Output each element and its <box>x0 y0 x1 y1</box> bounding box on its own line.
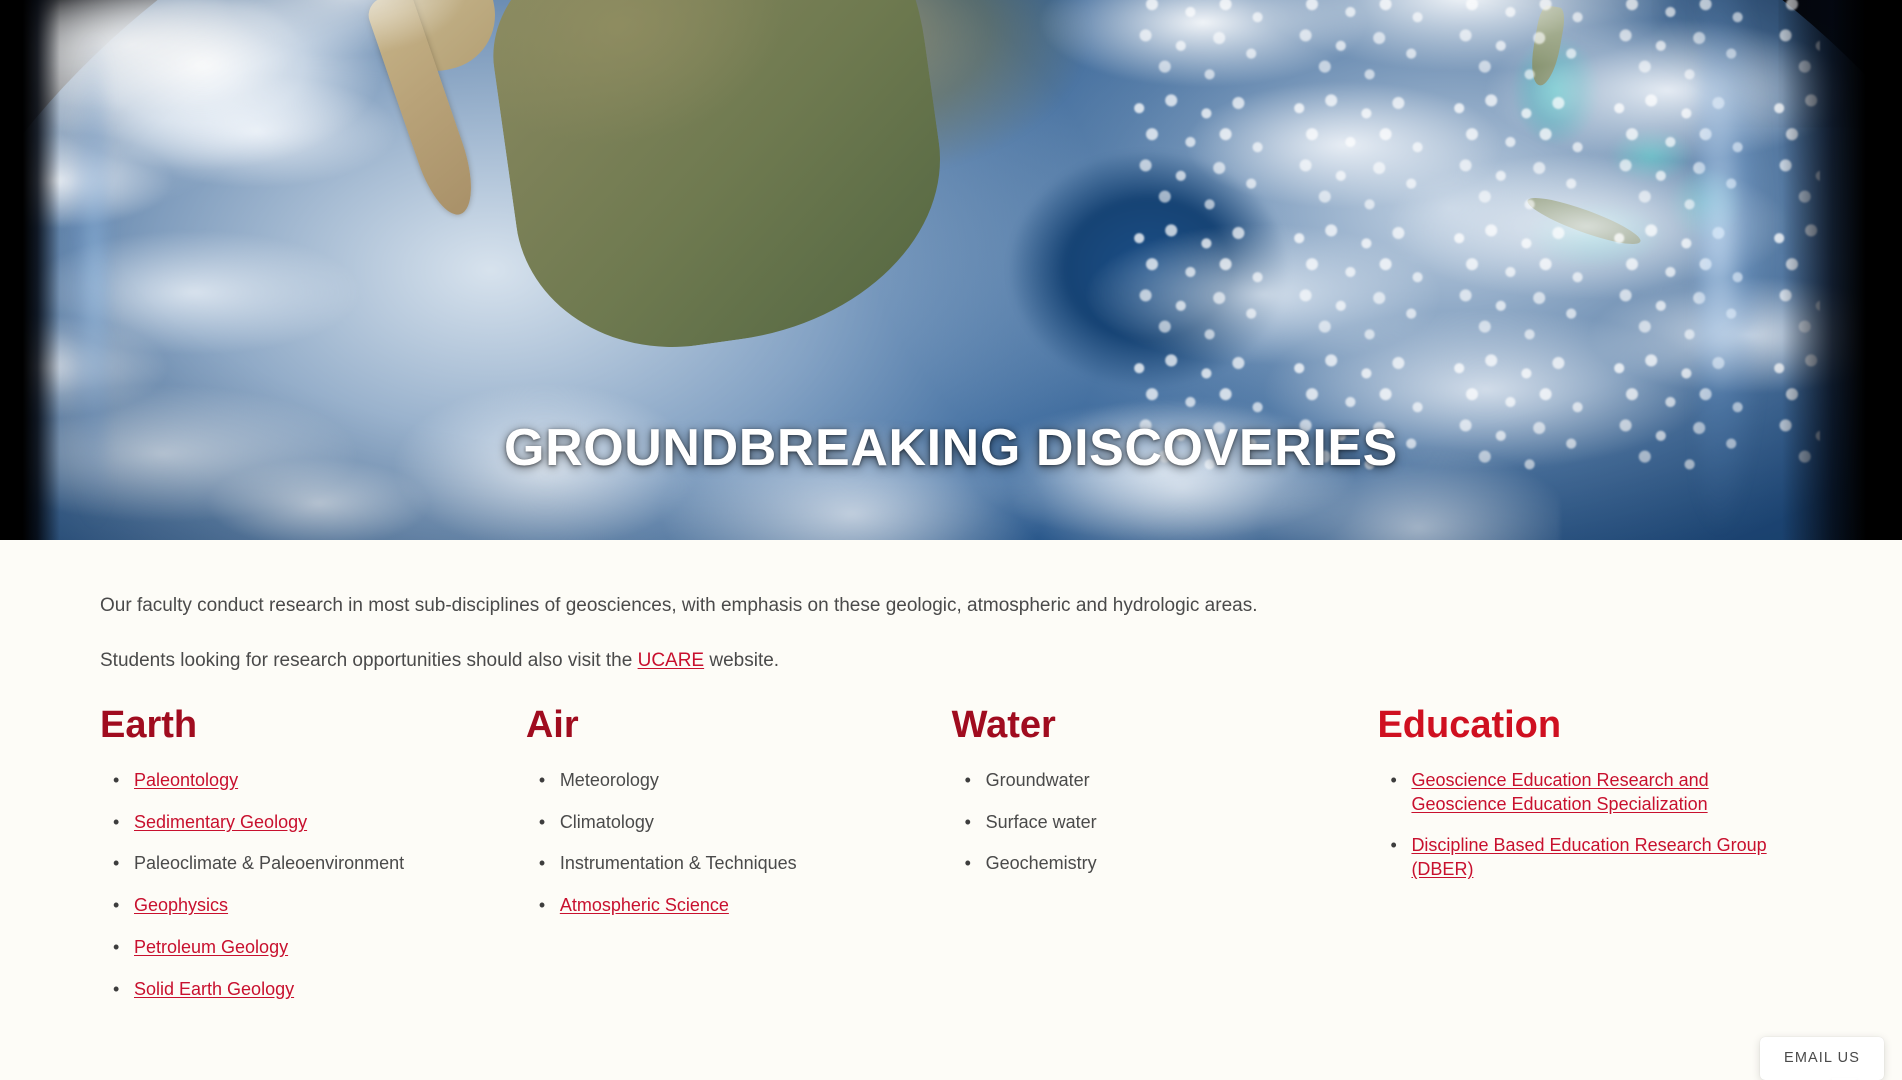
list-item: Paleoclimate & Paleoenvironment <box>134 852 490 876</box>
email-us-widget[interactable]: EMAIL US <box>1760 1037 1884 1080</box>
research-link-paleontology[interactable]: Paleontology <box>134 770 238 790</box>
list-item: Sedimentary Geology <box>134 811 490 835</box>
research-list-water: Groundwater Surface water Geochemistry <box>952 769 1342 876</box>
email-us-button[interactable]: EMAIL US <box>1760 1037 1884 1080</box>
intro-paragraph-2: Students looking for research opportunit… <box>100 647 1802 676</box>
list-item: Meteorology <box>560 769 916 793</box>
intro-paragraph-1: Our faculty conduct research in most sub… <box>100 592 1802 621</box>
research-column-air: Air Meteorology Climatology Instrumentat… <box>526 705 952 1019</box>
research-link-solid-earth-geology[interactable]: Solid Earth Geology <box>134 979 294 999</box>
research-list-education: Geoscience Education Research and Geosci… <box>1377 769 1802 882</box>
list-item: Instrumentation & Techniques <box>560 852 916 876</box>
research-column-water: Water Groundwater Surface water Geochemi… <box>952 705 1378 1019</box>
column-heading-education: Education <box>1377 705 1802 747</box>
research-column-education: Education Geoscience Education Research … <box>1377 705 1802 1019</box>
column-heading-air: Air <box>526 705 916 747</box>
list-item: Paleontology <box>134 769 490 793</box>
list-item: Groundwater <box>986 769 1342 793</box>
research-link-geophysics[interactable]: Geophysics <box>134 895 228 915</box>
intro-section: Our faculty conduct research in most sub… <box>100 592 1802 675</box>
hero-banner: GROUNDBREAKING DISCOVERIES <box>0 0 1902 540</box>
research-list-air: Meteorology Climatology Instrumentation … <box>526 769 916 918</box>
ucare-link[interactable]: UCARE <box>638 650 705 671</box>
research-list-earth: Paleontology Sedimentary Geology Paleocl… <box>100 769 490 1002</box>
research-areas-columns: Earth Paleontology Sedimentary Geology P… <box>100 705 1802 1019</box>
research-link-atmospheric-science[interactable]: Atmospheric Science <box>560 895 729 915</box>
list-item: Surface water <box>986 811 1342 835</box>
list-item: Atmospheric Science <box>560 894 916 918</box>
intro-paragraph-2-prefix: Students looking for research opportunit… <box>100 650 638 671</box>
research-link-sedimentary-geology[interactable]: Sedimentary Geology <box>134 812 307 832</box>
intro-paragraph-2-suffix: website. <box>704 650 779 671</box>
list-item: Geophysics <box>134 894 490 918</box>
list-item: Geoscience Education Research and Geosci… <box>1411 769 1802 817</box>
research-link-petroleum-geology[interactable]: Petroleum Geology <box>134 937 288 957</box>
main-content: Our faculty conduct research in most sub… <box>0 540 1902 1080</box>
list-item: Geochemistry <box>986 852 1342 876</box>
column-heading-earth: Earth <box>100 705 490 747</box>
page-title: GROUNDBREAKING DISCOVERIES <box>0 418 1902 478</box>
research-column-earth: Earth Paleontology Sedimentary Geology P… <box>100 705 526 1019</box>
list-item: Petroleum Geology <box>134 936 490 960</box>
research-link-dber[interactable]: Discipline Based Education Research Grou… <box>1411 835 1766 879</box>
list-item: Discipline Based Education Research Grou… <box>1411 834 1802 882</box>
list-item: Solid Earth Geology <box>134 978 490 1002</box>
research-link-geoscience-education-research[interactable]: Geoscience Education Research and Geosci… <box>1411 770 1708 814</box>
column-heading-water: Water <box>952 705 1342 747</box>
list-item: Climatology <box>560 811 916 835</box>
